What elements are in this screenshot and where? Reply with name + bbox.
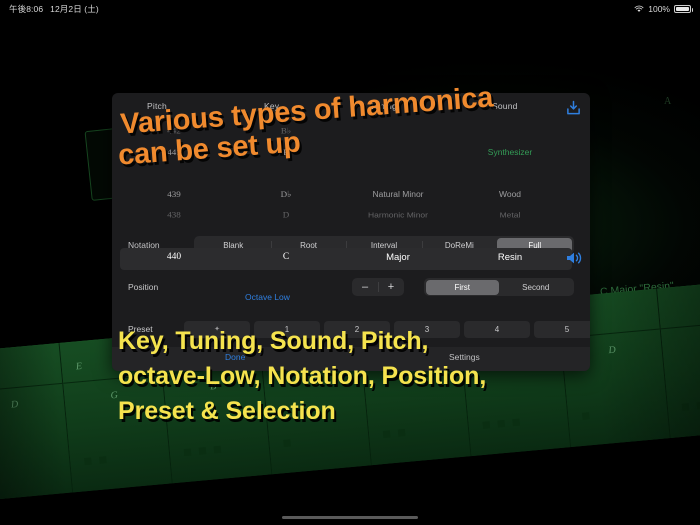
preset-buttons[interactable]: ✦12345	[184, 321, 590, 338]
key-marker-dots	[482, 419, 519, 429]
key-marker-dots	[283, 439, 291, 447]
key-marker-dot	[398, 429, 406, 437]
position-row: Position – + FirstSecond	[112, 274, 590, 300]
picker-item[interactable]: D	[232, 211, 340, 220]
picker-item[interactable]: 442	[120, 127, 228, 136]
key-marker-dot	[383, 430, 391, 438]
picker-item[interactable]: Synthesizer	[456, 147, 564, 156]
battery-icon	[674, 5, 691, 13]
column-header-tuning: Tuning	[370, 101, 397, 111]
position-minus-button[interactable]: –	[352, 278, 378, 296]
status-bar-right: 100%	[634, 4, 691, 14]
picker-item[interactable]: B	[232, 147, 340, 156]
picker-item[interactable]: Natural Minor	[344, 189, 452, 198]
key-note-label: E	[75, 361, 82, 373]
status-time: 午後8:06	[9, 3, 43, 15]
harmonica-settings-panel: Pitch Key Tuning Sound 442441439438B♭BD♭…	[112, 93, 590, 371]
key-marker-dots	[682, 402, 700, 411]
key-marker-dot	[512, 419, 520, 427]
status-bar: 午後8:06 12月2日 (土) 100%	[0, 0, 700, 17]
preset-button-2[interactable]: 2	[324, 321, 390, 338]
key-marker-dot	[99, 456, 107, 464]
panel-footer: Done Settings	[112, 347, 590, 371]
preset-star-icon: ✦	[214, 326, 220, 333]
column-header-key: Key	[264, 101, 279, 111]
position-segmented-control[interactable]: FirstSecond	[424, 278, 574, 296]
key-marker-dot	[184, 448, 192, 456]
key-marker-dot	[582, 412, 590, 420]
picker-item[interactable]: Wood	[456, 189, 564, 198]
position-option-first[interactable]: First	[426, 280, 500, 295]
picker-wheel-sound[interactable]: SynthesizerWoodMetal	[456, 113, 564, 223]
key-marker-dots	[383, 429, 406, 438]
picker-columns[interactable]: Pitch Key Tuning Sound 442441439438B♭BD♭…	[112, 93, 590, 223]
speaker-volume-icon[interactable]	[565, 250, 582, 266]
wifi-icon	[634, 5, 644, 13]
key-note-label: D	[309, 372, 317, 384]
key-marker-dot	[214, 446, 222, 454]
picker-item[interactable]: B♭	[232, 127, 340, 137]
preset-button-star[interactable]: ✦	[184, 321, 250, 338]
picker-item[interactable]: D♭	[232, 189, 340, 199]
key-marker-dots	[84, 456, 107, 465]
picker-selected-pitch[interactable]: 440	[120, 252, 228, 262]
picker-item[interactable]: Metal	[456, 211, 564, 220]
key-marker-dot	[84, 458, 92, 466]
picker-wheel-tuning[interactable]: Natural MinorHarmonic Minor	[344, 113, 452, 223]
key-marker-dot	[682, 403, 690, 411]
column-header-pitch: Pitch	[147, 101, 167, 111]
status-bar-left: 午後8:06 12月2日 (土)	[9, 3, 99, 15]
key-marker-dot	[283, 439, 291, 447]
home-indicator[interactable]	[282, 516, 418, 519]
picker-selected-sound[interactable]: Resin	[456, 252, 564, 263]
position-plus-button[interactable]: +	[378, 278, 404, 296]
position-option-second[interactable]: Second	[499, 280, 573, 295]
picker-wheel-key[interactable]: B♭BD♭D	[232, 113, 340, 223]
column-header-sound: Sound	[492, 101, 518, 111]
key-marker-dots	[184, 446, 221, 456]
picker-wheel-pitch[interactable]: 442441439438	[120, 113, 228, 223]
preset-button-4[interactable]: 4	[464, 321, 530, 338]
key-note-label: D	[11, 399, 19, 411]
picker-selected-tuning[interactable]: Major	[344, 252, 452, 263]
preset-row: Preset ✦12345	[112, 316, 590, 342]
preset-button-3[interactable]: 3	[394, 321, 460, 338]
preset-label: Preset	[128, 324, 153, 334]
key-marker-dot	[199, 447, 207, 455]
picker-item[interactable]: 439	[120, 189, 228, 198]
picker-item[interactable]: 441	[120, 147, 228, 156]
screen: A C Major "Resin" 10 CDEGBDACEGBDF 午後8:0…	[0, 0, 700, 525]
done-button[interactable]: Done	[225, 352, 245, 362]
position-stepper[interactable]: – +	[352, 278, 404, 296]
key-note-label: D	[608, 345, 616, 357]
key-divider	[63, 374, 162, 384]
background-note-marker: A	[664, 96, 671, 107]
key-divider	[661, 319, 700, 329]
settings-button[interactable]: Settings	[449, 352, 480, 362]
key-note-label: B	[210, 381, 217, 393]
key-divider	[0, 383, 62, 393]
key-note-label: G	[110, 390, 118, 402]
status-date: 12月2日 (土)	[50, 3, 99, 15]
battery-percent-label: 100%	[648, 4, 670, 14]
key-marker-dot	[497, 420, 505, 428]
preset-button-1[interactable]: 1	[254, 321, 320, 338]
key-marker-dot	[482, 421, 490, 429]
picker-item[interactable]: 438	[120, 211, 228, 220]
preset-button-5[interactable]: 5	[534, 321, 590, 338]
picker-item[interactable]: Harmonic Minor	[344, 211, 452, 220]
key-marker-dot	[697, 402, 700, 410]
position-label: Position	[128, 282, 158, 292]
picker-selected-key[interactable]: C	[232, 252, 340, 262]
key-marker-dots	[582, 412, 590, 420]
